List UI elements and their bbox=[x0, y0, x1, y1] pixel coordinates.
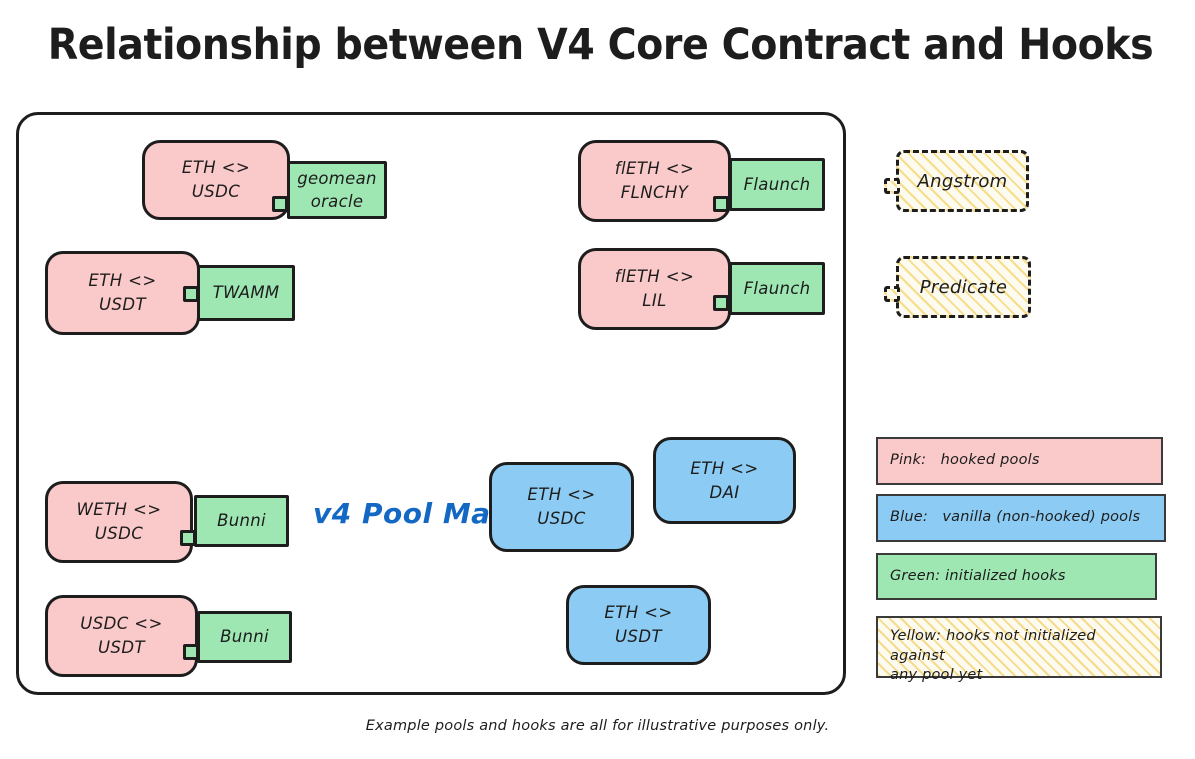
pool-box-hooked-0[interactable]: ETH <> USDC bbox=[142, 140, 290, 220]
pool-pair-line2: FLNCHY bbox=[621, 181, 688, 205]
hook-box-flaunch-flnchy[interactable]: Flaunch bbox=[729, 158, 825, 211]
pool-box-hooked-4[interactable]: WETH <> USDC bbox=[45, 481, 193, 563]
hook-connector-4 bbox=[180, 530, 196, 546]
hook-label: Angstrom bbox=[918, 171, 1008, 192]
pool-pair-line1: ETH <> bbox=[690, 457, 758, 481]
hook-label-line1: Flaunch bbox=[744, 173, 811, 196]
pool-pair-line1: USDC <> bbox=[80, 612, 162, 636]
pool-box-vanilla-0[interactable]: ETH <> USDC bbox=[489, 462, 634, 552]
hook-label-line1: Bunni bbox=[220, 625, 269, 648]
hook-label-line1: Bunni bbox=[217, 509, 266, 532]
pool-pair-line2: DAI bbox=[709, 481, 739, 505]
hook-box-flaunch-lil[interactable]: Flaunch bbox=[729, 262, 825, 315]
diagram-canvas: Relationship between V4 Core Contract an… bbox=[0, 0, 1195, 759]
pool-pair-line2: USDC bbox=[192, 180, 240, 204]
pool-box-hooked-3[interactable]: flETH <> LIL bbox=[578, 248, 731, 330]
uninit-hook-connector-0 bbox=[884, 178, 900, 194]
pool-pair-line2: USDT bbox=[98, 636, 145, 660]
pool-box-vanilla-2[interactable]: ETH <> USDT bbox=[566, 585, 711, 665]
legend-item-green: Green: initialized hooks bbox=[876, 553, 1157, 600]
hook-label-line1: geomean bbox=[297, 167, 377, 190]
hook-box-predicate[interactable]: Predicate bbox=[896, 256, 1031, 318]
pool-pair-line2: USDC bbox=[537, 507, 585, 531]
hook-box-bunni-weth-usdc[interactable]: Bunni bbox=[194, 495, 289, 547]
footer-note: Example pools and hooks are all for illu… bbox=[0, 718, 1195, 734]
hook-box-bunni-usdc-usdt[interactable]: Bunni bbox=[197, 611, 292, 663]
hook-connector-2 bbox=[713, 196, 729, 212]
pool-pair-line1: ETH <> bbox=[88, 269, 156, 293]
hook-box-geomean-oracle[interactable]: geomean oracle bbox=[287, 161, 387, 219]
pool-box-hooked-2[interactable]: flETH <> FLNCHY bbox=[578, 140, 731, 222]
pool-pair-line2: USDT bbox=[615, 625, 662, 649]
hook-connector-3 bbox=[713, 295, 729, 311]
hook-label-line1: Flaunch bbox=[744, 277, 811, 300]
hook-label-line2: oracle bbox=[311, 190, 364, 213]
hook-connector-5 bbox=[183, 644, 199, 660]
pool-pair-line1: ETH <> bbox=[604, 601, 672, 625]
pool-pair-line2: USDC bbox=[95, 522, 143, 546]
legend-label: Pink: hooked pools bbox=[890, 451, 1040, 471]
pool-box-vanilla-1[interactable]: ETH <> DAI bbox=[653, 437, 796, 524]
hook-label-line1: TWAMM bbox=[213, 281, 280, 304]
hook-connector-1 bbox=[183, 286, 199, 302]
uninit-hook-connector-1 bbox=[884, 286, 900, 302]
hook-connector-0 bbox=[272, 196, 288, 212]
legend-item-pink: Pink: hooked pools bbox=[876, 437, 1163, 485]
pool-pair-line1: ETH <> bbox=[182, 156, 250, 180]
pool-pair-line1: flETH <> bbox=[615, 265, 694, 289]
pool-pair-line1: flETH <> bbox=[615, 157, 694, 181]
legend-label: Blue: vanilla (non-hooked) pools bbox=[890, 508, 1140, 528]
legend-item-yellow: Yellow: hooks not initialized against an… bbox=[876, 616, 1162, 678]
hook-label: Predicate bbox=[920, 277, 1008, 298]
pool-box-hooked-1[interactable]: ETH <> USDT bbox=[45, 251, 200, 335]
legend-label: Green: initialized hooks bbox=[890, 567, 1066, 587]
pool-pair-line2: USDT bbox=[99, 293, 146, 317]
pool-pair-line1: ETH <> bbox=[527, 483, 595, 507]
legend-item-blue: Blue: vanilla (non-hooked) pools bbox=[876, 494, 1166, 542]
page-title: Relationship between V4 Core Contract an… bbox=[48, 20, 1147, 70]
pool-pair-line2: LIL bbox=[642, 289, 666, 313]
pool-pair-line1: WETH <> bbox=[77, 498, 162, 522]
hook-box-angstrom[interactable]: Angstrom bbox=[896, 150, 1029, 212]
legend-label: Yellow: hooks not initialized against an… bbox=[890, 627, 1148, 686]
hook-box-twamm[interactable]: TWAMM bbox=[197, 265, 295, 321]
pool-box-hooked-5[interactable]: USDC <> USDT bbox=[45, 595, 198, 677]
